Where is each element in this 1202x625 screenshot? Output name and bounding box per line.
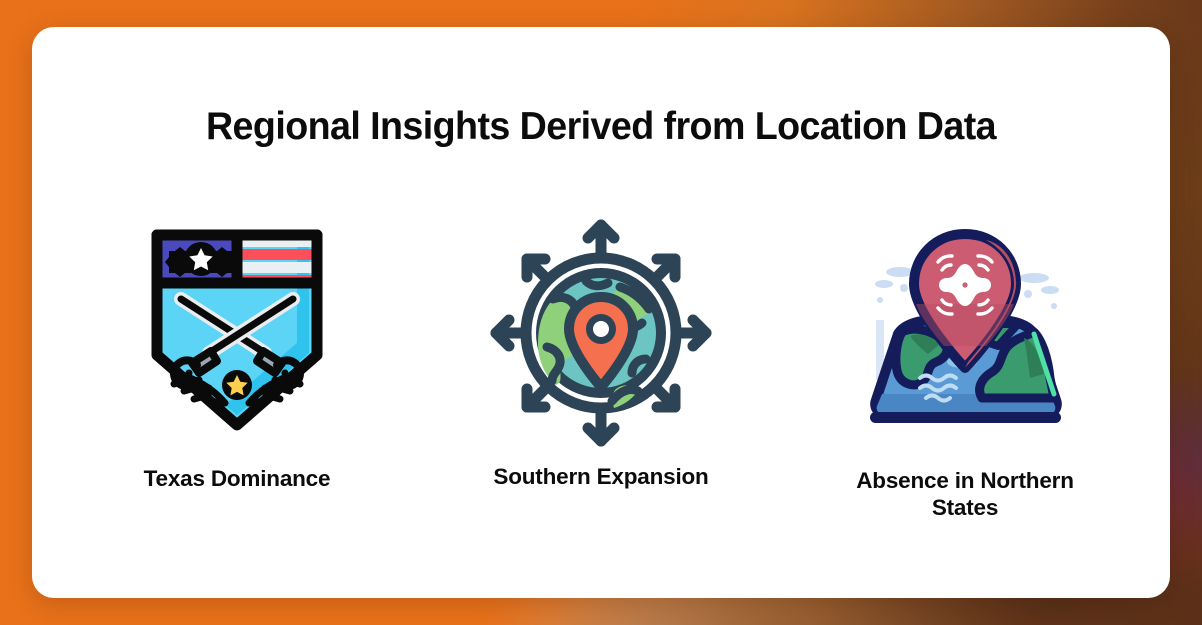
insight-label-texas: Texas Dominance: [144, 465, 331, 492]
content-card: Regional Insights Derived from Location …: [32, 27, 1170, 598]
military-badge-flag-icon: [147, 215, 327, 445]
insight-item-absence: Absence in Northern States: [800, 215, 1130, 522]
insight-item-texas: Texas Dominance: [72, 215, 402, 492]
insight-label-absence: Absence in Northern States: [843, 467, 1088, 522]
insight-columns: Texas Dominance: [72, 215, 1130, 522]
insight-label-southern: Southern Expansion: [493, 463, 708, 490]
page-title: Regional Insights Derived from Location …: [52, 105, 1150, 149]
globe-expansion-arrows-icon: [490, 215, 712, 450]
insight-item-southern: Southern Expansion: [436, 215, 766, 490]
map-location-pin-drone-icon: [858, 215, 1073, 445]
